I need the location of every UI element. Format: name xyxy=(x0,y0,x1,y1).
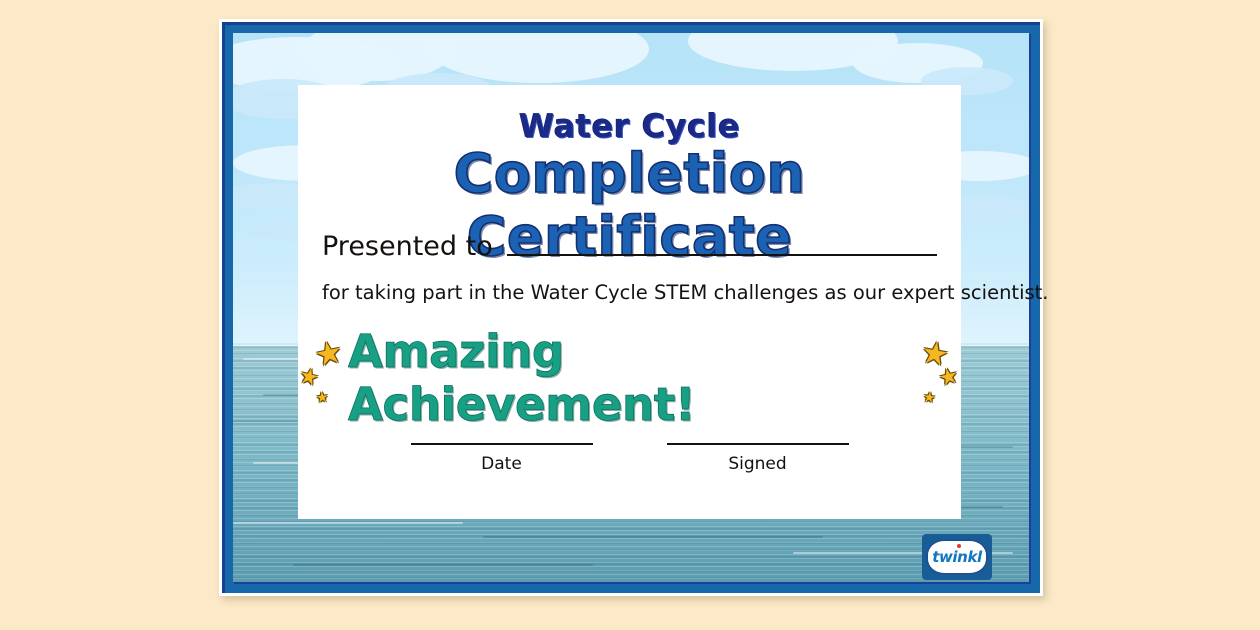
achievement-banner: ★ ★ ★ Amazing Achievement! ★ ★ ★ xyxy=(298,325,961,431)
signed-field: Signed xyxy=(667,443,849,474)
certificate-subtitle: Water Cycle xyxy=(298,107,961,145)
signed-input[interactable] xyxy=(667,443,849,445)
cloud-icon: twinkl xyxy=(928,541,986,573)
certificate-page: twinkl Water Cycle Completion Certificat… xyxy=(0,0,1260,630)
achievement-text: Amazing Achievement! xyxy=(348,325,911,431)
wave-streak xyxy=(293,564,593,566)
date-input[interactable] xyxy=(411,443,593,445)
star-icon: ★ xyxy=(315,390,329,405)
presented-to-row: Presented to xyxy=(322,233,937,260)
signed-label: Signed xyxy=(667,454,849,474)
certificate-body-text: for taking part in the Water Cycle STEM … xyxy=(322,281,937,304)
recipient-name-input[interactable] xyxy=(507,254,937,256)
presented-to-label: Presented to xyxy=(322,233,493,260)
wave-streak xyxy=(483,536,823,538)
twinkl-dot-accent xyxy=(957,544,961,548)
date-label: Date xyxy=(411,454,593,474)
signature-row: Date Signed xyxy=(298,443,961,474)
certificate-card: Water Cycle Completion Certificate Prese… xyxy=(298,85,961,519)
star-icon: ★ xyxy=(297,365,321,391)
twinkl-wordmark: twinkl xyxy=(932,548,982,566)
star-icon: ★ xyxy=(937,365,961,391)
star-cluster-right: ★ ★ ★ xyxy=(915,339,961,417)
star-cluster-left: ★ ★ ★ xyxy=(298,339,344,417)
wave-streak xyxy=(233,522,463,524)
twinkl-logo[interactable]: twinkl xyxy=(922,534,992,580)
star-icon: ★ xyxy=(922,390,936,406)
date-field: Date xyxy=(411,443,593,474)
